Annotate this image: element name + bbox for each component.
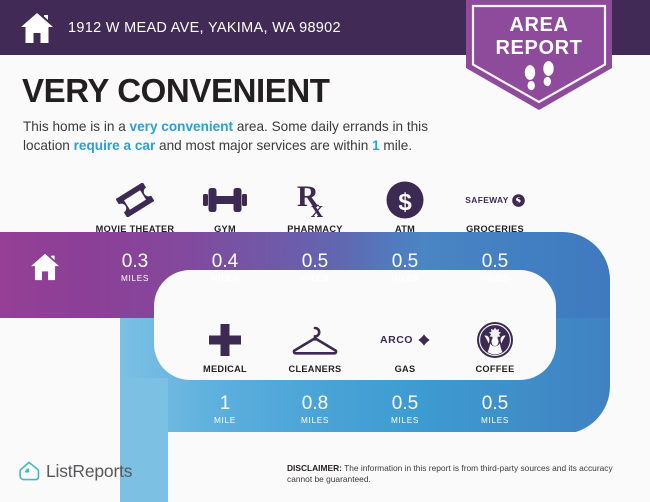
- distance-value: 0.5: [482, 394, 508, 414]
- subtitle-highlight-3: 1: [372, 138, 380, 153]
- property-address: 1912 W MEAD AVE, YAKIMA, WA 98902: [68, 20, 341, 36]
- distance-unit: MILES: [301, 416, 329, 425]
- subtitle-part-1: This home is in a: [23, 119, 130, 134]
- distance-value: 0.5: [302, 252, 328, 272]
- starbucks-logo-icon: [450, 320, 540, 360]
- category-label: GYM: [214, 224, 236, 234]
- category-atm: $ ATM: [360, 172, 450, 234]
- distance-groceries: 0.5 MILES: [450, 238, 540, 296]
- category-label: GROCERIES: [466, 224, 524, 234]
- category-label: ATM: [395, 224, 415, 234]
- icon-row-2: MEDICAL CLEANERS ARCO GAS: [0, 312, 650, 374]
- movie-ticket-icon: [90, 180, 180, 220]
- safeway-logo-icon: SAFEWAY: [450, 180, 540, 220]
- distance-unit: MILES: [301, 274, 329, 283]
- home-icon: [20, 12, 54, 44]
- category-coffee: COFFEE: [450, 312, 540, 374]
- distance-medical: 1 MILE: [180, 380, 270, 438]
- safeway-wordmark: SAFEWAY: [465, 195, 508, 205]
- listreports-wordmark: ListReports: [46, 461, 132, 482]
- listreports-logo[interactable]: ListReports: [18, 460, 132, 482]
- medical-cross-icon: [180, 320, 270, 360]
- category-label: MEDICAL: [203, 364, 247, 374]
- category-pharmacy: R x PHARMACY: [270, 172, 360, 234]
- distance-value: 0.5: [392, 394, 418, 414]
- subtitle-part-4: mile.: [380, 138, 412, 153]
- area-report-badge: AREA REPORT: [466, 0, 612, 110]
- category-label: COFFEE: [475, 364, 514, 374]
- distance-value: 0.5: [392, 252, 418, 272]
- dumbbell-icon: [180, 180, 270, 220]
- distance-unit: MILES: [121, 274, 149, 283]
- category-label: GAS: [395, 364, 416, 374]
- distance-value: 0.4: [212, 252, 238, 272]
- home-marker-cell: [0, 238, 90, 296]
- category-medical: MEDICAL: [180, 312, 270, 374]
- page-title: VERY CONVENIENT: [22, 72, 330, 110]
- category-label: MOVIE THEATER: [96, 224, 175, 234]
- icon-row-1: MOVIE THEATER GYM R: [0, 172, 650, 234]
- distance-atm: 0.5 MILES: [360, 238, 450, 296]
- distance-unit: MILES: [481, 274, 509, 283]
- subtitle-highlight-1: very convenient: [130, 119, 234, 134]
- disclaimer: DISCLAIMER: The information in this repo…: [287, 463, 639, 486]
- distance-unit: MILES: [481, 416, 509, 425]
- category-groceries: SAFEWAY GROCERIES: [450, 172, 540, 234]
- distance-unit: MILES: [391, 274, 419, 283]
- distance-coffee: 0.5 MILES: [450, 380, 540, 438]
- distance-movie-theater: 0.3 MILES: [90, 238, 180, 296]
- distance-value: 0.8: [302, 394, 328, 414]
- disclaimer-label: DISCLAIMER:: [287, 463, 342, 473]
- category-label: PHARMACY: [287, 224, 342, 234]
- home-icon: [30, 253, 60, 281]
- distance-value: 1: [220, 394, 231, 414]
- rx-icon: R x: [270, 180, 360, 220]
- distance-unit: MILES: [391, 416, 419, 425]
- dollar-circle-icon: $: [360, 180, 450, 220]
- listreports-house-icon: [18, 460, 40, 482]
- category-label: CLEANERS: [289, 364, 342, 374]
- arco-logo-icon: ARCO: [360, 320, 450, 360]
- distance-gym: 0.4 MILES: [180, 238, 270, 296]
- distance-unit: MILE: [214, 416, 236, 425]
- distance-pharmacy: 0.5 MILES: [270, 238, 360, 296]
- distance-gas: 0.5 MILES: [360, 380, 450, 438]
- category-gym: GYM: [180, 172, 270, 234]
- category-cleaners: CLEANERS: [270, 312, 360, 374]
- distance-value: 0.5: [482, 252, 508, 272]
- value-row-2: 1 MILE 0.8 MILES 0.5 MILES 0.5 MILES: [0, 380, 650, 438]
- distance-cleaners: 0.8 MILES: [270, 380, 360, 438]
- category-gas: ARCO GAS: [360, 312, 450, 374]
- area-report-page: 1912 W MEAD AVE, YAKIMA, WA 98902 AREA R…: [0, 0, 650, 502]
- distance-value: 0.3: [122, 252, 148, 272]
- subtitle-highlight-2: require a car: [74, 138, 156, 153]
- svg-text:$: $: [398, 189, 412, 216]
- distance-unit: MILES: [211, 274, 239, 283]
- badge-shape: [466, 0, 612, 110]
- page-subtitle: This home is in a very convenient area. …: [23, 118, 463, 155]
- subtitle-part-3: and most major services are within: [155, 138, 372, 153]
- category-movie-theater: MOVIE THEATER: [90, 172, 180, 234]
- value-row-1: 0.3 MILES 0.4 MILES 0.5 MILES 0.5 MILES …: [0, 238, 650, 296]
- svg-text:x: x: [311, 197, 323, 219]
- arco-wordmark: ARCO: [380, 334, 413, 346]
- clothes-hanger-icon: [270, 320, 360, 360]
